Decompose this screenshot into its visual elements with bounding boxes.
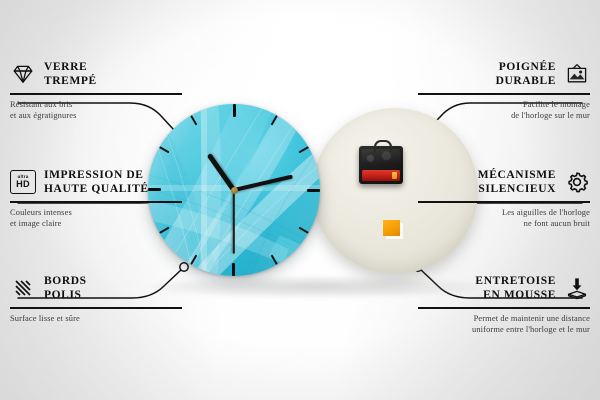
- feature-entretoise-en-mousse: ENTRETOISE EN MOUSSE Permet de maintenir…: [418, 272, 590, 335]
- feature-header: ENTRETOISE EN MOUSSE: [418, 272, 590, 304]
- feature-desc-line2: ne font aucun bruit: [418, 218, 590, 229]
- feature-description: Les aiguilles de l'horloge ne font aucun…: [418, 207, 590, 230]
- feature-title-line2: HAUTE QUALITÉ: [44, 182, 149, 196]
- feature-desc-line1: Couleurs intenses: [10, 207, 182, 218]
- feature-bords-polis: BORDS POLIS Surface lisse et sûre: [10, 272, 182, 324]
- ultra-hd-badge: ultra HD: [10, 170, 36, 194]
- feature-rule: [418, 307, 590, 309]
- feature-desc-line2: de l'horloge sur le mur: [418, 110, 590, 121]
- feature-desc-line2: uniforme entre l'horloge et le mur: [418, 324, 590, 335]
- feature-title-line2: DURABLE: [496, 74, 556, 88]
- feature-header: ultra HD IMPRESSION DE HAUTE QUALITÉ: [10, 166, 182, 198]
- feature-title: MÉCANISME SILENCIEUX: [478, 168, 556, 196]
- feature-title-line1: IMPRESSION DE: [44, 168, 149, 182]
- battery: [362, 170, 400, 181]
- diamond-icon: [10, 61, 36, 87]
- clock-center-cap: [231, 187, 238, 194]
- infographic-stage: VERRE TREMPÉ Résistant aux bris et aux é…: [0, 0, 600, 400]
- gear-icon: [564, 169, 590, 195]
- feature-title-line2: EN MOUSSE: [475, 288, 556, 302]
- picture-hanger-icon: [564, 61, 590, 87]
- feature-description: Surface lisse et sûre: [10, 313, 182, 324]
- feature-verre-trempe: VERRE TREMPÉ Résistant aux bris et aux é…: [10, 58, 182, 121]
- feature-header: MÉCANISME SILENCIEUX: [418, 166, 590, 198]
- feature-title-line1: MÉCANISME: [478, 168, 556, 182]
- feature-desc-line1: Résistant aux bris: [10, 99, 182, 110]
- feature-title-line2: POLIS: [44, 288, 87, 302]
- feature-header: BORDS POLIS: [10, 272, 182, 304]
- feature-mecanisme-silencieux: MÉCANISME SILENCIEUX Les aiguilles de l'…: [418, 166, 590, 229]
- feature-desc-line2: et aux égratignures: [10, 110, 182, 121]
- feature-rule: [10, 201, 182, 203]
- feature-poignee-durable: POIGNÉE DURABLE Facilite le montage de l…: [418, 58, 590, 121]
- feature-rule: [418, 93, 590, 95]
- feature-title-line1: POIGNÉE: [496, 60, 556, 74]
- ultra-hd-badge-bottom: HD: [16, 180, 30, 189]
- feature-rule: [10, 307, 182, 309]
- feature-description: Permet de maintenir une distance uniform…: [418, 313, 590, 336]
- feature-header: VERRE TREMPÉ: [10, 58, 182, 90]
- ultra-hd-icon: ultra HD: [10, 169, 36, 195]
- hanger-loop-icon: [374, 140, 392, 152]
- feature-header: POIGNÉE DURABLE: [418, 58, 590, 90]
- feature-title: ENTRETOISE EN MOUSSE: [475, 274, 556, 302]
- feature-rule: [418, 201, 590, 203]
- feature-rule: [10, 93, 182, 95]
- feature-title-line1: BORDS: [44, 274, 87, 288]
- feature-desc-line1: Surface lisse et sûre: [10, 313, 182, 324]
- feature-title-line2: SILENCIEUX: [478, 182, 556, 196]
- clock-second-hand: [233, 190, 235, 254]
- polished-edges-icon: [10, 275, 36, 301]
- feature-desc-line2: et image claire: [10, 218, 182, 229]
- feature-desc-line1: Permet de maintenir une distance: [418, 313, 590, 324]
- feature-description: Résistant aux bris et aux égratignures: [10, 99, 182, 122]
- feature-impression-haute-qualite: ultra HD IMPRESSION DE HAUTE QUALITÉ Cou…: [10, 166, 182, 229]
- feature-description: Facilite le montage de l'horloge sur le …: [418, 99, 590, 122]
- feature-title: POIGNÉE DURABLE: [496, 60, 556, 88]
- feature-desc-line1: Facilite le montage: [418, 99, 590, 110]
- feature-title-line1: VERRE: [44, 60, 97, 74]
- feature-title-line2: TREMPÉ: [44, 74, 97, 88]
- foam-spacer-icon: [564, 275, 590, 301]
- feature-title: IMPRESSION DE HAUTE QUALITÉ: [44, 168, 149, 196]
- feature-desc-line1: Les aiguilles de l'horloge: [418, 207, 590, 218]
- feature-title: BORDS POLIS: [44, 274, 87, 302]
- foam-spacer: [383, 220, 400, 236]
- feature-description: Couleurs intenses et image claire: [10, 207, 182, 230]
- feature-title: VERRE TREMPÉ: [44, 60, 97, 88]
- feature-title-line1: ENTRETOISE: [475, 274, 556, 288]
